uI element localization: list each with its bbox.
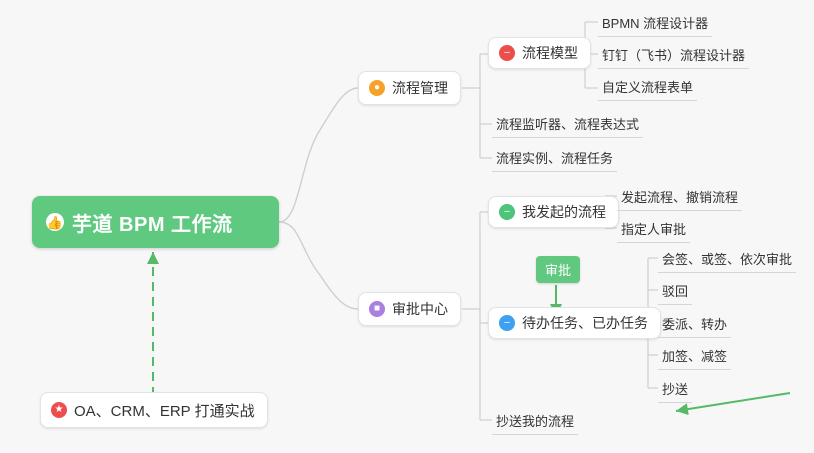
annotation-label: OA、CRM、ERP 打通实战 [74,400,255,421]
node-label: 待办任务、已办任务 [522,313,648,333]
leaf-process-listener[interactable]: 流程监听器、流程表达式 [492,112,643,138]
leaf-assign-approver[interactable]: 指定人审批 [617,217,690,243]
location-pin-icon: ● [369,80,385,96]
leaf-cc[interactable]: 抄送 [658,377,692,403]
branch-node-process-management[interactable]: ● 流程管理 [358,71,461,105]
branch-node-approval-center[interactable]: ■ 审批中心 [358,292,461,326]
mail-icon: ■ [369,301,385,317]
root-node[interactable]: 👍 芋道 BPM 工作流 [32,196,279,248]
node-label: 流程模型 [522,43,578,63]
minus-circle-icon: – [499,204,515,220]
leaf-process-instance[interactable]: 流程实例、流程任务 [492,146,617,172]
annotation-integration-card[interactable]: ★ OA、CRM、ERP 打通实战 [40,392,268,428]
leaf-start-cancel-process[interactable]: 发起流程、撤销流程 [617,185,742,211]
leaf-dingtalk-designer[interactable]: 钉钉（飞书）流程设计器 [598,43,749,69]
minus-circle-icon: – [499,45,515,61]
node-process-model[interactable]: – 流程模型 [488,37,591,69]
leaf-custom-form[interactable]: 自定义流程表单 [598,75,697,101]
node-todo-done-tasks[interactable]: – 待办任务、已办任务 [488,307,661,339]
leaf-countersign[interactable]: 会签、或签、依次审批 [658,247,796,273]
leaf-delegate-transfer[interactable]: 委派、转办 [658,312,731,338]
mindmap-canvas: 👍 芋道 BPM 工作流 ● 流程管理 – 流程模型 BPMN 流程设计器 钉钉… [0,0,814,453]
leaf-bpmn-designer[interactable]: BPMN 流程设计器 [598,11,712,37]
minus-circle-icon: – [499,315,515,331]
annotation-approval-pill[interactable]: 审批 [536,256,580,283]
root-label: 芋道 BPM 工作流 [72,208,233,237]
node-label: 我发起的流程 [522,202,606,222]
leaf-add-remove-sign[interactable]: 加签、减签 [658,344,731,370]
leaf-cc-to-me[interactable]: 抄送我的流程 [492,409,578,435]
node-my-started-process[interactable]: – 我发起的流程 [488,196,619,228]
star-icon: ★ [51,402,67,418]
thumbs-up-icon: 👍 [46,213,64,231]
branch-label: 流程管理 [392,78,448,98]
leaf-reject[interactable]: 驳回 [658,279,692,305]
branch-label: 审批中心 [392,299,448,319]
